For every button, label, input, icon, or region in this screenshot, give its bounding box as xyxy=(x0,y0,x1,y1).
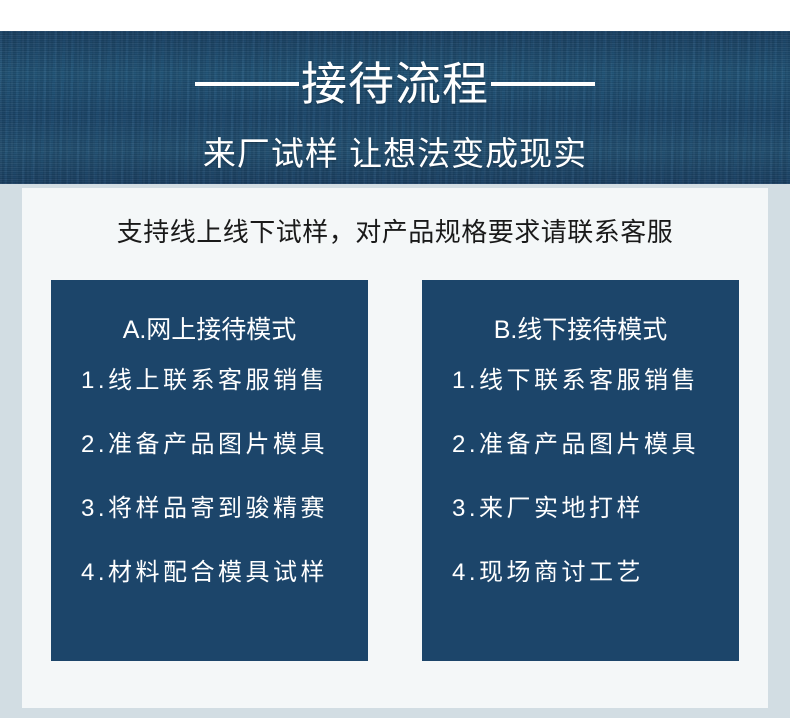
card-online: A.网上接待模式 1.线上联系客服销售 2.准备产品图片模具 3.将样品寄到骏精… xyxy=(51,280,368,661)
top-white-strip xyxy=(0,0,790,31)
cards-container: A.网上接待模式 1.线上联系客服销售 2.准备产品图片模具 3.将样品寄到骏精… xyxy=(51,280,739,661)
card-online-title: A.网上接待模式 xyxy=(51,310,368,350)
list-item: 1.线下联系客服销售 xyxy=(422,366,739,396)
title-rule-left-icon xyxy=(195,82,299,86)
card-offline-title: B.线下接待模式 xyxy=(422,310,739,350)
promo-page: 接待流程 来厂试样 让想法变成现实 支持线上线下试样，对产品规格要求请联系客服 … xyxy=(0,0,790,718)
list-item: 2.准备产品图片模具 xyxy=(422,430,739,460)
list-item: 1.线上联系客服销售 xyxy=(51,366,368,396)
header-title-row: 接待流程 xyxy=(0,57,790,111)
panel-heading: 支持线上线下试样，对产品规格要求请联系客服 xyxy=(22,214,768,250)
title-rule-right-icon xyxy=(491,82,595,86)
page-subtitle: 来厂试样 让想法变成现实 xyxy=(0,134,790,174)
list-item: 2.准备产品图片模具 xyxy=(51,430,368,460)
list-item: 3.将样品寄到骏精赛 xyxy=(51,494,368,524)
list-item: 4.现场商讨工艺 xyxy=(422,558,739,588)
content-panel: 支持线上线下试样，对产品规格要求请联系客服 A.网上接待模式 1.线上联系客服销… xyxy=(22,188,768,708)
list-item: 4.材料配合模具试样 xyxy=(51,558,368,588)
card-offline-list: 1.线下联系客服销售 2.准备产品图片模具 3.来厂实地打样 4.现场商讨工艺 xyxy=(422,366,739,588)
card-offline: B.线下接待模式 1.线下联系客服销售 2.准备产品图片模具 3.来厂实地打样 … xyxy=(422,280,739,661)
list-item: 3.来厂实地打样 xyxy=(422,494,739,524)
page-title: 接待流程 xyxy=(299,57,491,111)
header-banner: 接待流程 来厂试样 让想法变成现实 xyxy=(0,31,790,184)
bottom-band xyxy=(0,708,790,718)
card-online-list: 1.线上联系客服销售 2.准备产品图片模具 3.将样品寄到骏精赛 4.材料配合模… xyxy=(51,366,368,588)
header-content: 接待流程 来厂试样 让想法变成现实 xyxy=(0,31,790,184)
